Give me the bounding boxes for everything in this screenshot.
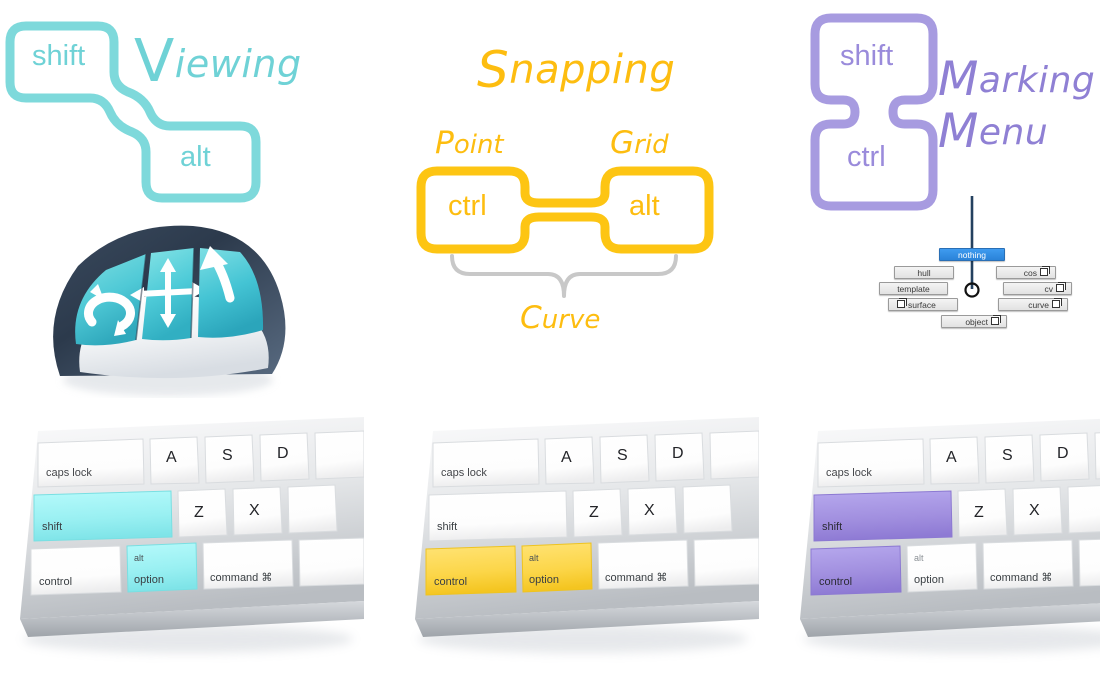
key-z-3[interactable]: Z: [958, 489, 1007, 537]
key-control-3[interactable]: control: [811, 546, 901, 595]
submenu-arrow-icon-surface: [897, 300, 905, 308]
key-option-2[interactable]: alt option: [522, 543, 592, 592]
snapping-keyboard: caps lock A S D: [393, 405, 759, 670]
key-label-option-sub-3: alt: [914, 553, 924, 563]
key-label-caps-lock-2: caps lock: [441, 467, 487, 479]
key-space-1[interactable]: [299, 538, 364, 586]
marking-menu-item-cos-label: cos: [1024, 268, 1037, 278]
modifier-key-reference-board: shift alt Viewing: [0, 0, 1100, 670]
key-label-command-3: command ⌘: [990, 572, 1052, 584]
key-s-3[interactable]: S: [985, 435, 1034, 483]
marking-menu-item-nothing[interactable]: nothing: [939, 248, 1005, 261]
key-label-control-3: control: [819, 576, 852, 588]
marking-key-label-shift: shift: [840, 40, 893, 73]
key-d-3[interactable]: D: [1040, 433, 1089, 481]
marking-menu-item-cv-label: cv: [1045, 284, 1054, 294]
key-label-a-3: A: [946, 449, 957, 466]
key-label-a-1: A: [166, 449, 177, 466]
key-label-s-2: S: [617, 447, 628, 464]
key-space-3[interactable]: [1079, 538, 1100, 586]
key-s-1[interactable]: S: [205, 435, 254, 483]
key-label-shift-3: shift: [822, 521, 842, 533]
marking-menu-item-cv[interactable]: cv: [1003, 282, 1072, 295]
key-label-s-3: S: [1002, 447, 1013, 464]
marking-menu-item-curve-label: curve: [1028, 300, 1049, 310]
key-x-2[interactable]: X: [628, 487, 677, 535]
key-caps-lock-2[interactable]: caps lock: [433, 439, 539, 487]
key-label-option-sub-1: alt: [134, 553, 144, 563]
key-a-2[interactable]: A: [545, 437, 594, 484]
key-caps-lock-1[interactable]: caps lock: [38, 439, 144, 487]
key-option-1[interactable]: alt option: [127, 543, 197, 592]
key-label-control-1: control: [39, 576, 72, 588]
key-label-option-3: option: [914, 574, 944, 586]
submenu-arrow-icon-object: [991, 317, 999, 325]
key-label-d-3: D: [1057, 445, 1069, 462]
marking-menu-item-surface[interactable]: surface: [888, 298, 958, 311]
marking-menu-item-object[interactable]: object: [941, 315, 1007, 328]
key-command-1[interactable]: command ⌘: [203, 540, 293, 589]
key-label-z-1: Z: [194, 504, 204, 521]
marking-title-capital-1: M: [938, 53, 979, 107]
key-z-1[interactable]: Z: [178, 489, 227, 537]
key-label-option-1: option: [134, 574, 164, 586]
keyboard-svg-1: caps lock A S D: [0, 405, 364, 670]
marking-menu-item-curve[interactable]: curve: [998, 298, 1068, 311]
key-label-option-sub-2: alt: [529, 553, 539, 563]
key-label-shift-1: shift: [42, 521, 62, 533]
key-f-3[interactable]: [1095, 431, 1100, 479]
key-d-1[interactable]: D: [260, 433, 309, 481]
key-label-caps-lock-3: caps lock: [826, 467, 872, 479]
key-label-x-3: X: [1029, 502, 1040, 519]
key-x-1[interactable]: X: [233, 487, 282, 535]
marking-menu-title: Marking Menu: [938, 55, 1095, 159]
marking-menu-title-line2: Menu: [938, 107, 1095, 159]
key-label-x-1: X: [249, 502, 260, 519]
key-label-a-2: A: [561, 449, 572, 466]
marking-menu-item-surface-label: surface: [908, 300, 936, 310]
marking-menu-diagram: shift ctrl Marking Menu nothing h: [0, 0, 1100, 400]
marking-menu-keyboard: caps lock A S D: [778, 405, 1100, 670]
key-a-3[interactable]: A: [930, 437, 979, 484]
marking-menu-item-hull[interactable]: hull: [894, 266, 954, 279]
key-x-3[interactable]: X: [1013, 487, 1062, 535]
viewing-keyboard: caps lock A S D: [0, 405, 364, 670]
key-command-2[interactable]: command ⌘: [598, 540, 688, 589]
key-shift-2[interactable]: shift: [429, 491, 567, 541]
marking-menu-item-hull-label: hull: [917, 268, 930, 278]
marking-menu-title-line1: Marking: [938, 55, 1095, 107]
marking-key-label-ctrl: ctrl: [847, 141, 886, 174]
key-f-1[interactable]: [315, 431, 364, 479]
key-label-x-2: X: [644, 502, 655, 519]
marking-menu-item-cos[interactable]: cos: [996, 266, 1056, 279]
key-c-3[interactable]: [1068, 485, 1100, 533]
key-command-3[interactable]: command ⌘: [983, 540, 1073, 589]
key-space-2[interactable]: [694, 538, 759, 586]
marking-menu-item-template[interactable]: template: [879, 282, 948, 295]
marking-menu-item-nothing-label: nothing: [958, 250, 986, 260]
key-c-2[interactable]: [683, 485, 732, 533]
key-label-shift-2: shift: [437, 521, 457, 533]
key-label-z-2: Z: [589, 504, 599, 521]
marking-title-rest-2: enu: [979, 112, 1048, 153]
key-label-s-1: S: [222, 447, 233, 464]
key-a-1[interactable]: A: [150, 437, 199, 484]
submenu-arrow-icon-cos: [1040, 268, 1048, 276]
key-z-2[interactable]: Z: [573, 489, 622, 537]
key-control-2[interactable]: control: [426, 546, 516, 595]
key-label-option-2: option: [529, 574, 559, 586]
key-label-caps-lock-1: caps lock: [46, 467, 92, 479]
key-label-z-3: Z: [974, 504, 984, 521]
key-option-3[interactable]: alt option: [907, 543, 977, 592]
key-caps-lock-3[interactable]: caps lock: [818, 439, 924, 487]
key-shift-3[interactable]: shift: [814, 491, 952, 541]
marking-menu-item-object-label: object: [965, 317, 988, 327]
key-label-d-1: D: [277, 445, 289, 462]
key-label-command-2: command ⌘: [605, 572, 667, 584]
key-s-2[interactable]: S: [600, 435, 649, 483]
key-c-1[interactable]: [288, 485, 337, 533]
submenu-arrow-icon-curve: [1052, 300, 1060, 308]
keyboard-svg-2: caps lock A S D: [393, 405, 759, 670]
key-label-d-2: D: [672, 445, 684, 462]
key-shift-1[interactable]: shift: [34, 491, 172, 541]
keyboard-svg-3: caps lock A S D: [778, 405, 1100, 670]
marking-title-rest-1: arking: [979, 60, 1095, 101]
key-control-1[interactable]: control: [31, 546, 121, 595]
key-d-2[interactable]: D: [655, 433, 704, 481]
marking-menu-item-template-label: template: [897, 284, 930, 294]
marking-menu-widget[interactable]: nothing hull cos template cv surface: [866, 190, 1096, 345]
key-f-2[interactable]: [710, 431, 759, 479]
key-label-control-2: control: [434, 576, 467, 588]
submenu-arrow-icon-cv: [1056, 284, 1064, 292]
key-label-command-1: command ⌘: [210, 572, 272, 584]
marking-title-capital-2: M: [938, 105, 979, 159]
